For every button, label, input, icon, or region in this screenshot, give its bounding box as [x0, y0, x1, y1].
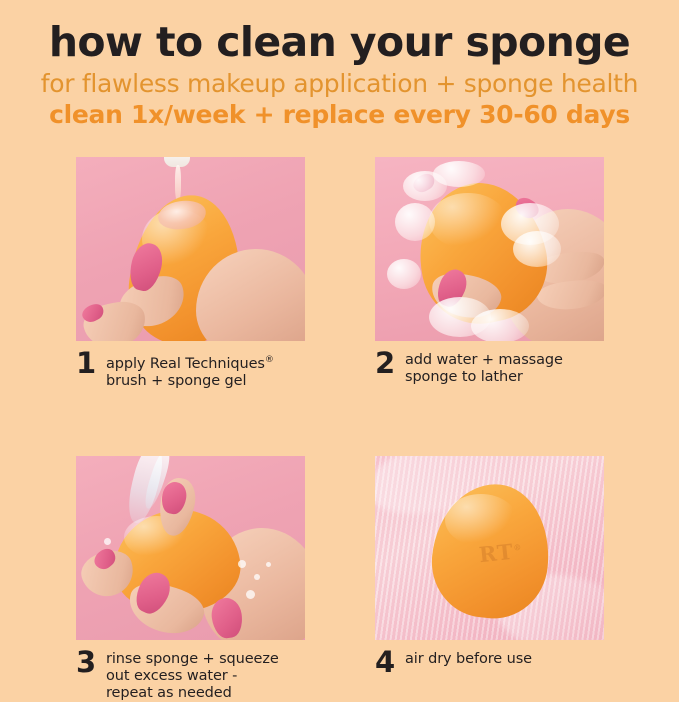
step-2-photo: [375, 157, 604, 341]
rt-logo-mark: RT: [478, 539, 515, 567]
poster-header: how to clean your sponge for flawless ma…: [0, 18, 679, 130]
water-droplet: [266, 562, 271, 567]
gel-drip: [175, 165, 181, 201]
foam-bubble: [513, 231, 561, 267]
step-1-caption: 1 apply Real Techniques®brush + sponge g…: [76, 350, 305, 390]
step-3-line-2: out excess water - repeat as needed: [106, 668, 237, 701]
infographic-poster: how to clean your sponge for flawless ma…: [0, 0, 679, 679]
step-2: 2 add water + massagesponge to lather: [375, 157, 604, 390]
step-3-line-1: rinse sponge + squeeze: [106, 651, 279, 667]
step-2-number: 2: [375, 350, 405, 376]
step-3-caption: 3 rinse sponge + squeezeout excess water…: [76, 649, 305, 702]
sponge-highlight: [429, 193, 507, 249]
water-droplet: [254, 574, 260, 580]
foam-bubble: [433, 161, 485, 187]
step-3: 3 rinse sponge + squeezeout excess water…: [76, 456, 305, 702]
step-4-photo: RT®: [375, 456, 604, 640]
foam-bubble: [471, 309, 529, 341]
page-title: how to clean your sponge: [0, 18, 679, 66]
foam-bubble: [387, 259, 421, 289]
step-1-text: apply Real Techniques®brush + sponge gel: [106, 350, 274, 390]
rt-logo-registered: ®: [513, 542, 523, 553]
water-droplet: [246, 590, 255, 599]
step-2-text: add water + massagesponge to lather: [405, 350, 563, 386]
step-3-photo: [76, 456, 305, 640]
step-4-caption: 4 air dry before use: [375, 649, 604, 675]
water-droplet: [104, 538, 111, 545]
rt-logo: RT®: [478, 538, 524, 567]
registered-mark: ®: [265, 355, 274, 365]
subtitle-secondary: clean 1x/week + replace every 30-60 days: [0, 100, 679, 130]
foam-bubble: [395, 203, 435, 241]
step-4: RT® 4 air dry before use: [375, 456, 604, 702]
step-4-text: air dry before use: [405, 649, 532, 668]
water-droplet: [238, 560, 246, 568]
steps-row-top: 1 apply Real Techniques®brush + sponge g…: [76, 157, 604, 390]
steps-grid: 1 apply Real Techniques®brush + sponge g…: [76, 157, 604, 702]
step-3-number: 3: [76, 649, 106, 675]
step-1-line-2: brush + sponge gel: [106, 373, 246, 389]
subtitle-primary: for flawless makeup application + sponge…: [0, 69, 679, 99]
step-1-number: 1: [76, 350, 106, 376]
step-3-text: rinse sponge + squeezeout excess water -…: [106, 649, 279, 702]
step-1: 1 apply Real Techniques®brush + sponge g…: [76, 157, 305, 390]
step-1-photo: [76, 157, 305, 341]
step-2-line-1: add water + massage: [405, 352, 563, 368]
step-2-line-2: sponge to lather: [405, 369, 523, 385]
steps-row-bottom: 3 rinse sponge + squeezeout excess water…: [76, 456, 604, 702]
step-2-caption: 2 add water + massagesponge to lather: [375, 350, 604, 386]
step-1-line-1: apply Real Techniques: [106, 356, 265, 372]
step-4-number: 4: [375, 649, 405, 675]
sponge-highlight: [445, 494, 517, 546]
row-spacer: [76, 390, 604, 456]
